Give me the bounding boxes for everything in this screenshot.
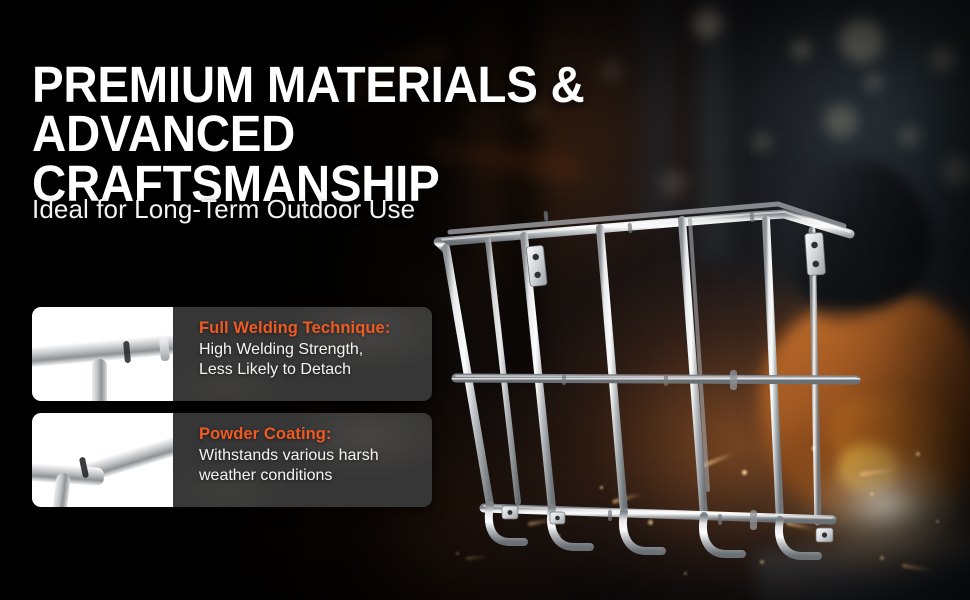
feature-description: Withstands various harsh weather conditi…: [199, 446, 420, 487]
tube-leg: [92, 359, 107, 401]
feature-title: Powder Coating:: [199, 424, 420, 444]
page-title: PREMIUM MATERIALS & ADVANCED CRAFTSMANSH…: [32, 60, 804, 208]
tube-end-cap: [159, 338, 170, 362]
feature-title: Full Welding Technique:: [199, 318, 420, 338]
subheadline: Ideal for Long-Term Outdoor Use: [32, 194, 415, 225]
feature-card-powder-coating: Powder Coating: Withstands various harsh…: [32, 413, 432, 507]
feature-card-list: Full Welding Technique: High Welding Str…: [32, 307, 432, 507]
feature-thumbnail-welded-joint: [32, 307, 173, 401]
banner-content: PREMIUM MATERIALS & ADVANCED CRAFTSMANSH…: [0, 0, 970, 600]
feature-thumbnail-elbow-joint: [32, 413, 173, 507]
feature-card-full-welding: Full Welding Technique: High Welding Str…: [32, 307, 432, 401]
product-feature-banner: PREMIUM MATERIALS & ADVANCED CRAFTSMANSH…: [0, 0, 970, 600]
feature-description: High Welding Strength, Less Likely to De…: [199, 340, 420, 381]
feature-card-body: Powder Coating: Withstands various harsh…: [173, 413, 432, 507]
feature-card-body: Full Welding Technique: High Welding Str…: [173, 307, 432, 401]
